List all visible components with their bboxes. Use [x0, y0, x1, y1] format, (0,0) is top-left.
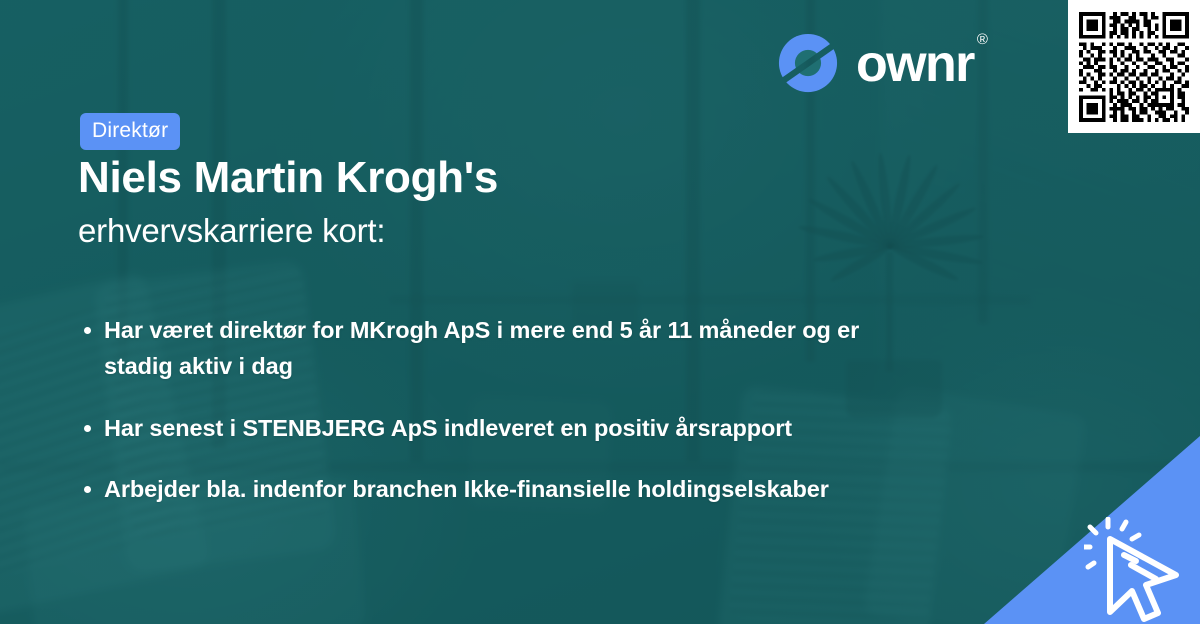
- list-item-text: Arbejder bla. indenfor branchen Ikke-fin…: [104, 476, 829, 502]
- qr-code[interactable]: [1079, 12, 1189, 122]
- title-subtitle: erhvervskarriere kort:: [78, 210, 778, 253]
- role-badge: Direktør: [80, 113, 180, 150]
- list-item-text: Har senest i STENBJERG ApS indleveret en…: [104, 415, 792, 441]
- click-cursor-icon: [1084, 517, 1194, 622]
- ownr-logo-mark: [777, 32, 839, 94]
- qr-code-panel[interactable]: [1068, 0, 1200, 133]
- registered-trademark-icon: ®: [977, 32, 988, 47]
- career-facts-list: Har været direktør for MKrogh ApS i mere…: [78, 312, 928, 508]
- ownr-logo: ownr ®: [777, 31, 988, 95]
- list-item: Har senest i STENBJERG ApS indleveret en…: [78, 410, 928, 446]
- page-title: Niels Martin Krogh's erhvervskarriere ko…: [78, 152, 778, 253]
- bullet-dot-icon: [84, 486, 91, 493]
- list-item-text: Har været direktør for MKrogh ApS i mere…: [104, 317, 859, 379]
- career-summary-card: Direktør Niels Martin Krogh's erhvervska…: [0, 0, 1200, 624]
- ownr-wordmark: ownr: [856, 38, 974, 90]
- bullet-dot-icon: [84, 425, 91, 432]
- list-item: Har været direktør for MKrogh ApS i mere…: [78, 312, 928, 385]
- title-person-name: Niels Martin Krogh's: [78, 152, 778, 204]
- bullet-dot-icon: [84, 327, 91, 334]
- list-item: Arbejder bla. indenfor branchen Ikke-fin…: [78, 471, 928, 507]
